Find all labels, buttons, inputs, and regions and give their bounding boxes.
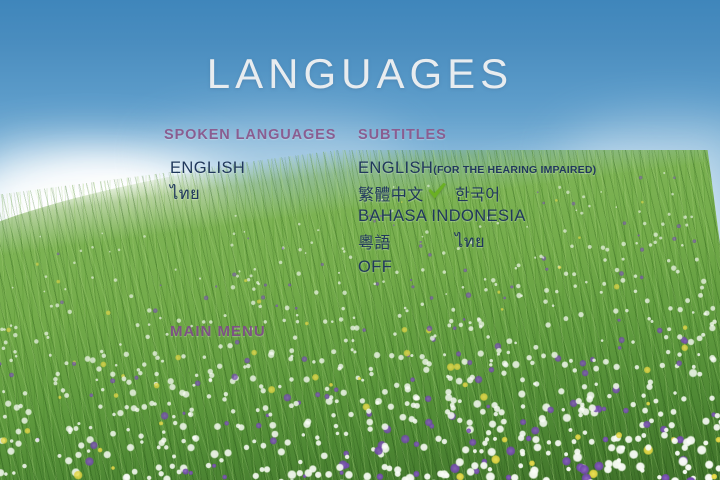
subtitle-option-traditional-chinese[interactable]: 繁體中文 bbox=[358, 181, 424, 205]
spoken-option-thai[interactable]: ไทย bbox=[170, 181, 200, 207]
subtitle-option-cantonese[interactable]: 粵語 bbox=[358, 229, 391, 253]
subtitle-option-english-note: (FOR THE HEARING IMPAIRED) bbox=[433, 164, 596, 176]
menu-overlay: LANGUAGES SPOKEN LANGUAGES ENGLISH ไทย S… bbox=[0, 0, 720, 480]
subtitle-option-english-hearing-impaired[interactable]: ENGLISH(FOR THE HEARING IMPAIRED) bbox=[358, 159, 596, 178]
subtitle-option-english-label: ENGLISH bbox=[358, 159, 433, 177]
subtitle-option-bahasa-indonesia[interactable]: BAHASA INDONESIA bbox=[358, 207, 526, 226]
spoken-option-english[interactable]: ENGLISH bbox=[170, 159, 245, 178]
subtitle-option-thai[interactable]: ไทย bbox=[455, 229, 485, 255]
page-title: LANGUAGES bbox=[0, 50, 720, 98]
subtitles-heading: SUBTITLES bbox=[358, 127, 447, 143]
main-menu-button[interactable]: MAIN MENU bbox=[170, 323, 266, 340]
subtitle-option-korean[interactable]: 한국어 bbox=[455, 181, 500, 205]
dvd-language-menu-screen: LANGUAGES SPOKEN LANGUAGES ENGLISH ไทย S… bbox=[0, 0, 720, 480]
spoken-languages-heading: SPOKEN LANGUAGES bbox=[164, 127, 336, 143]
green-check-icon bbox=[427, 182, 447, 200]
subtitle-option-off[interactable]: OFF bbox=[358, 258, 392, 277]
